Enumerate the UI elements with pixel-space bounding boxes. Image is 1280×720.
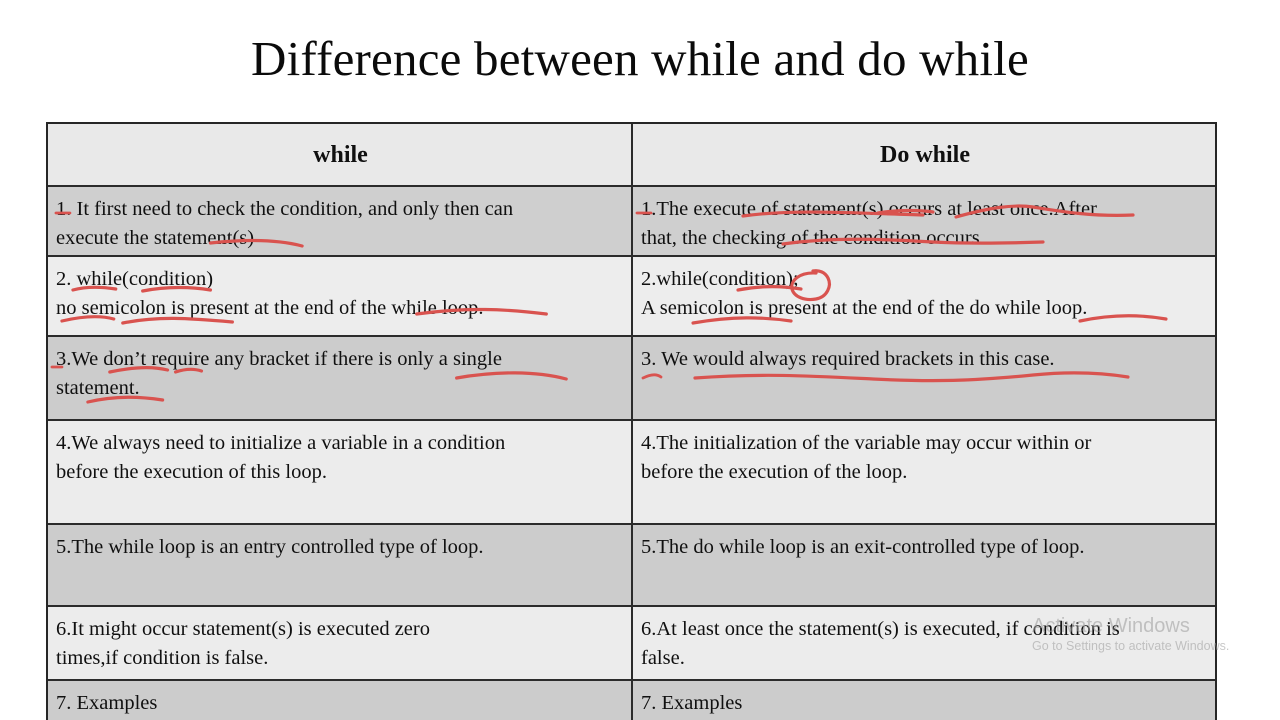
table-row: 6.It might occur statement(s) is execute…: [48, 607, 1215, 681]
table-cell-do-while-2: 2.while(condition); A semicolon is prese…: [633, 257, 1215, 335]
comparison-table: while Do while 1. It first need to check…: [46, 122, 1217, 720]
cell-text: 6.At least once the statement(s) is exec…: [641, 615, 1209, 673]
table-cell-while-4: 4.We always need to initialize a variabl…: [48, 421, 633, 523]
column-header-do-while: Do while: [633, 124, 1215, 185]
cell-text: 4.We always need to initialize a variabl…: [56, 429, 625, 487]
cell-text: 1.The execute of statement(s) occurs at …: [641, 195, 1209, 253]
table-cell-do-while-6: 6.At least once the statement(s) is exec…: [633, 607, 1215, 679]
cell-text: 3.We don’t require any bracket if there …: [56, 345, 625, 403]
table-row: 3.We don’t require any bracket if there …: [48, 337, 1215, 421]
cell-text: 1. It first need to check the condition,…: [56, 195, 625, 253]
page-title: Difference between while and do while: [0, 30, 1280, 87]
table-header-row: while Do while: [48, 124, 1215, 187]
table-cell-do-while-3: 3. We would always required brackets in …: [633, 337, 1215, 419]
cell-text: 6.It might occur statement(s) is execute…: [56, 615, 625, 673]
table-row: 2. while(condition) no semicolon is pres…: [48, 257, 1215, 337]
cell-text: 2. while(condition) no semicolon is pres…: [56, 265, 625, 323]
table-row: 7. Examples 7. Examples: [48, 681, 1215, 720]
cell-text: 7. Examples: [641, 689, 1209, 718]
table-row: 4.We always need to initialize a variabl…: [48, 421, 1215, 525]
cell-text: 5.The do while loop is an exit-controlle…: [641, 533, 1209, 562]
table-cell-while-5: 5.The while loop is an entry controlled …: [48, 525, 633, 605]
column-header-while: while: [48, 124, 633, 185]
cell-text: 5.The while loop is an entry controlled …: [56, 533, 625, 562]
table-cell-while-3: 3.We don’t require any bracket if there …: [48, 337, 633, 419]
table-cell-while-2: 2. while(condition) no semicolon is pres…: [48, 257, 633, 335]
table-cell-while-6: 6.It might occur statement(s) is execute…: [48, 607, 633, 679]
table-cell-while-7: 7. Examples: [48, 681, 633, 720]
table-row: 1. It first need to check the condition,…: [48, 187, 1215, 257]
table-cell-do-while-4: 4.The initialization of the variable may…: [633, 421, 1215, 523]
cell-text: 7. Examples: [56, 689, 625, 718]
cell-text: 3. We would always required brackets in …: [641, 345, 1209, 374]
table-cell-do-while-5: 5.The do while loop is an exit-controlle…: [633, 525, 1215, 605]
cell-text: 2.while(condition); A semicolon is prese…: [641, 265, 1209, 323]
cell-text: 4.The initialization of the variable may…: [641, 429, 1209, 487]
table-row: 5.The while loop is an entry controlled …: [48, 525, 1215, 607]
table-cell-while-1: 1. It first need to check the condition,…: [48, 187, 633, 255]
table-cell-do-while-7: 7. Examples: [633, 681, 1215, 720]
table-cell-do-while-1: 1.The execute of statement(s) occurs at …: [633, 187, 1215, 255]
